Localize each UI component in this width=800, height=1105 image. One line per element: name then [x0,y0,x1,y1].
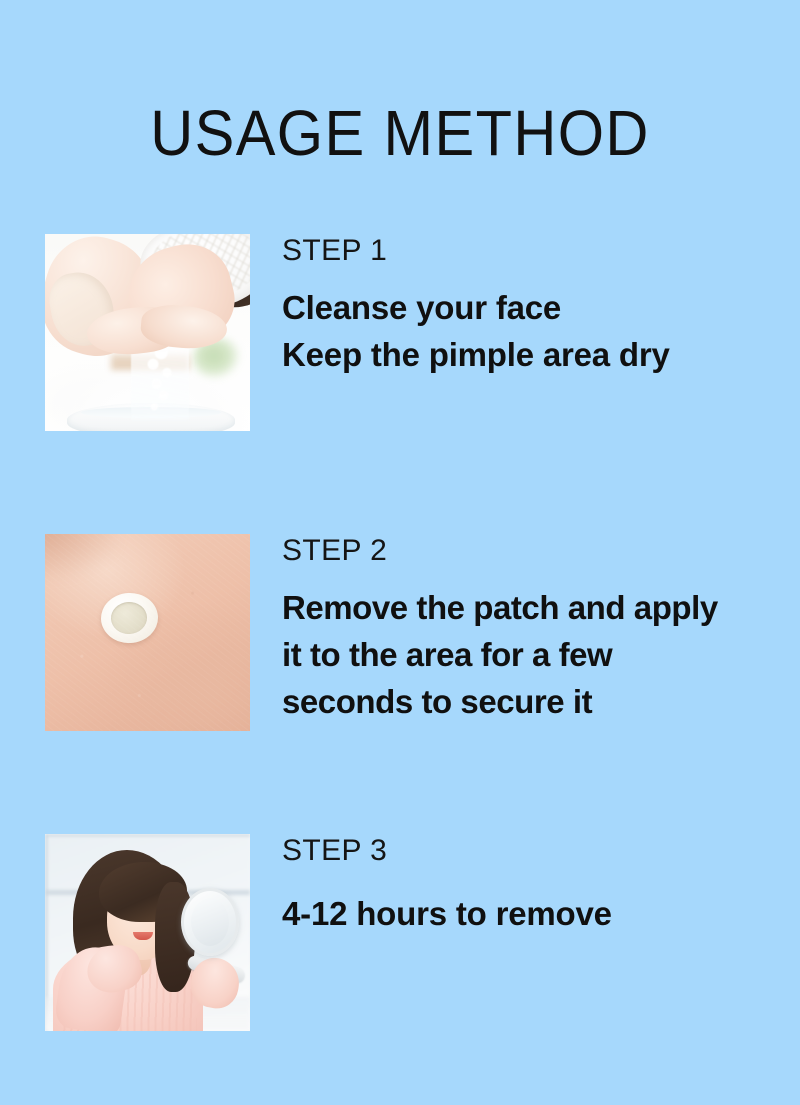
acne-patch-center [110,601,148,635]
usage-method-infographic: USAGE METHOD STEP 1 Clea [0,0,800,1105]
step-2-line-2: it to the area for a few [282,631,800,678]
hand-mirror [181,888,239,956]
step-1-line-1: Cleanse your face [282,284,800,331]
step-3-label: STEP 3 [282,834,800,868]
smiling-mouth [133,932,153,940]
step-2-line-3: seconds to secure it [282,678,800,725]
step-2-line-1: Remove the patch and apply [282,584,800,631]
step-1-label: STEP 1 [282,234,800,268]
mirror-photo-background [45,834,250,1031]
woman-cleansing-face-photo [45,234,250,431]
step-3-line-1: 4-12 hours to remove [282,890,800,937]
step-2-description: Remove the patch and apply it to the are… [282,584,800,725]
cleanse-photo-background [45,234,250,431]
step-1-line-2: Keep the pimple area dry [282,331,800,378]
skin-shadow [45,534,117,578]
step-1-text-block: STEP 1 Cleanse your face Keep the pimple… [282,234,800,378]
page-title: USAGE METHOD [28,101,772,165]
skin-with-acne-patch-photo [45,534,250,731]
step-1-description: Cleanse your face Keep the pimple area d… [282,284,800,378]
step-2-label: STEP 2 [282,534,800,568]
skin-surface [45,534,250,731]
step-3-text-block: STEP 3 4-12 hours to remove [282,834,800,937]
acne-patch [100,592,160,645]
woman-holding-mirror-photo [45,834,250,1031]
step-2-text-block: STEP 2 Remove the patch and apply it to … [282,534,800,725]
step-3-description: 4-12 hours to remove [282,890,800,937]
